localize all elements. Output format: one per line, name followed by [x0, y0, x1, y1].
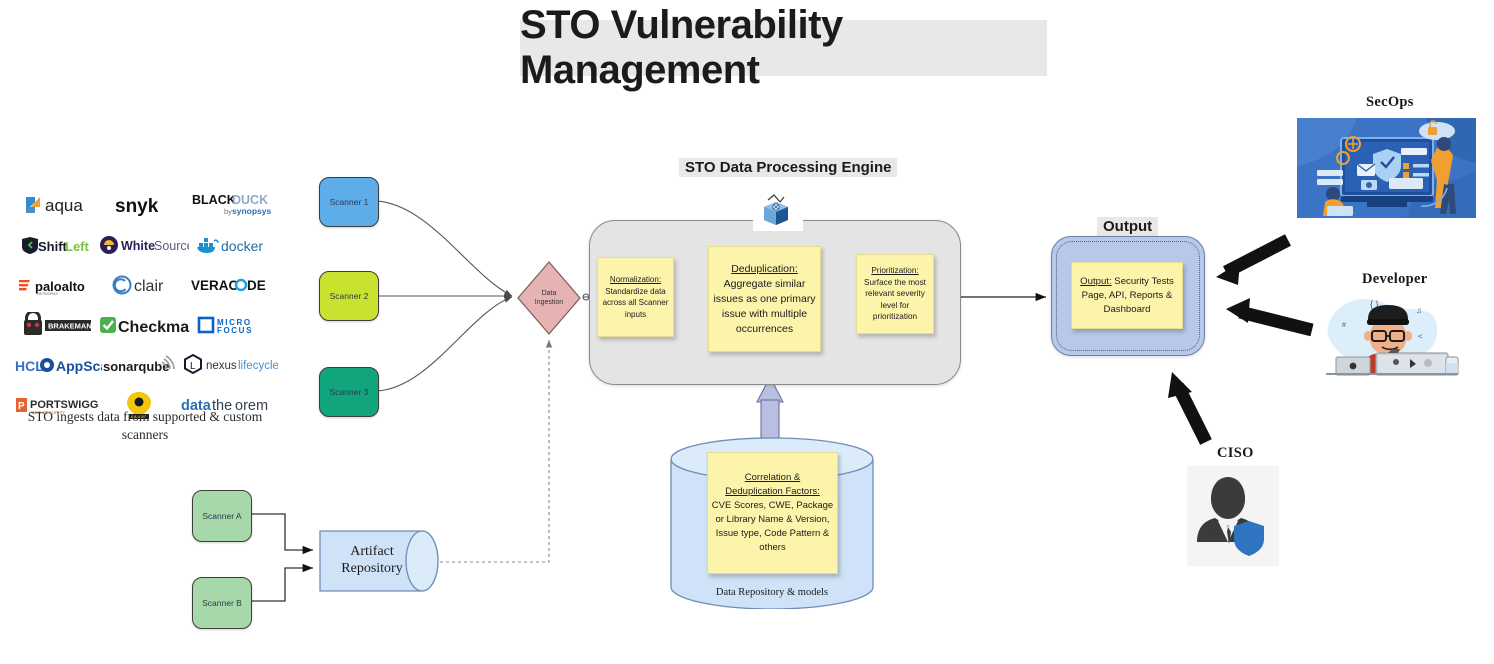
logo-row: paloalto NETWORKS clair VERAC DE	[14, 265, 274, 305]
normalization-heading: Normalization:	[610, 274, 661, 286]
svg-text:by: by	[224, 207, 232, 216]
brakeman-logo-icon: BRAKEMAN	[14, 305, 98, 345]
correlation-factors-note: Correlation & Deduplication Factors: CVE…	[707, 452, 838, 574]
developer-label: Developer	[1362, 271, 1428, 288]
scanner-logo-grid: aqua snyk BLACK DUCK by synopsys Shift L…	[14, 185, 274, 425]
svg-text:aqua: aqua	[45, 196, 83, 215]
output-heading: Output:	[1080, 276, 1111, 287]
data-ingestion-label: Data Ingestion	[516, 260, 582, 336]
svg-text:Source: Source	[154, 239, 189, 253]
hcl-appscan-logo-icon: HCL AppScan	[14, 345, 102, 385]
logo-row: BRAKEMAN Checkmarx MICRO FOCUS	[14, 305, 274, 345]
secops-illustration	[1297, 118, 1476, 218]
prioritization-note: Prioritization: Surface the most relevan…	[856, 254, 934, 334]
sonarqube-logo-icon: sonarqube	[102, 345, 182, 385]
normalization-note: Normalization: Standardize data across a…	[597, 257, 674, 337]
logo-row: aqua snyk BLACK DUCK by synopsys	[14, 185, 274, 225]
secops-label: SecOps	[1366, 94, 1414, 111]
docker-logo-icon: docker	[189, 225, 274, 265]
scanner-2-box[interactable]: Scanner 2	[319, 271, 379, 321]
scanner-1-box[interactable]: Scanner 1	[319, 177, 379, 227]
developer-illustration: { } ♫ # <	[1318, 291, 1463, 376]
data-ingestion-node[interactable]: Data Ingestion	[516, 260, 582, 336]
svg-text:VERAC: VERAC	[191, 278, 239, 293]
svg-text:BRAKEMAN: BRAKEMAN	[48, 322, 92, 331]
prioritization-body: Surface the most relevant severity level…	[860, 277, 930, 323]
normalization-body: Standardize data across all Scanner inpu…	[601, 286, 670, 321]
engine-section-title: STO Data Processing Engine	[679, 158, 897, 177]
svg-text:BLACK: BLACK	[192, 193, 236, 207]
deduplication-heading: Deduplication:	[731, 262, 798, 277]
deduplication-body: Aggregate similar issues as one primary …	[712, 277, 817, 337]
svg-text:clair: clair	[134, 278, 164, 295]
veracode-logo-icon: VERAC DE	[187, 265, 274, 305]
deduplication-note: Deduplication: Aggregate similar issues …	[708, 246, 821, 352]
paloalto-logo-icon: paloalto NETWORKS	[14, 265, 101, 305]
processing-cube-icon	[753, 193, 803, 231]
output-section-title: Output	[1097, 217, 1158, 236]
artifact-repository-label: Artifact Repository	[318, 543, 426, 577]
checkmarx-logo-icon: Checkmarx	[98, 305, 190, 345]
microfocus-logo-icon: MICRO FOCUS	[190, 305, 274, 345]
svg-text:docker: docker	[221, 238, 263, 254]
svg-text:DUCK: DUCK	[232, 193, 268, 207]
svg-text:FOCUS: FOCUS	[217, 326, 253, 335]
svg-text:Left: Left	[65, 239, 90, 254]
scanner-b-box[interactable]: Scanner B	[192, 577, 252, 629]
svg-text:DE: DE	[247, 278, 266, 293]
page-title: STO Vulnerability Management	[520, 20, 1047, 76]
svg-text:sonarqube: sonarqube	[103, 359, 169, 374]
svg-text:Checkmarx: Checkmarx	[118, 319, 190, 336]
shiftleft-logo-icon: Shift Left	[14, 225, 99, 265]
output-note: Output: Security Tests Page, API, Report…	[1071, 262, 1183, 329]
nexus-lifecycle-logo-icon: L nexus lifecycle	[182, 345, 278, 385]
aqua-logo-icon: aqua	[14, 185, 101, 225]
data-repository-label: Data Repository & models	[669, 586, 875, 599]
snyk-logo-icon: snyk	[101, 185, 188, 225]
clair-logo-icon: clair	[101, 265, 188, 305]
logo-row: HCL AppScan sonarqube L nexus lifecycle	[14, 345, 274, 385]
svg-text:lifecycle: lifecycle	[238, 360, 278, 372]
correlation-heading-1: Correlation &	[745, 471, 800, 485]
prioritization-heading: Prioritization:	[871, 265, 918, 277]
logo-row: Shift Left White Source docker	[14, 225, 274, 265]
blackduck-logo-icon: BLACK DUCK by synopsys	[187, 185, 274, 225]
output-note-text: Output: Security Tests Page, API, Report…	[1075, 275, 1179, 317]
svg-text:L: L	[190, 361, 196, 372]
scanner-logos-caption: STO ingests data from supported & custom…	[10, 408, 280, 444]
svg-text:<: <	[1418, 332, 1423, 341]
svg-text:♫: ♫	[1416, 306, 1422, 315]
ciso-label: CISO	[1217, 445, 1254, 462]
svg-text:snyk: snyk	[115, 196, 159, 217]
whitesource-logo-icon: White Source	[99, 225, 189, 265]
svg-text:NETWORKS: NETWORKS	[37, 292, 58, 296]
scanner-a-box[interactable]: Scanner A	[192, 490, 252, 542]
svg-text:synopsys: synopsys	[232, 206, 271, 216]
svg-text:#: #	[1342, 322, 1346, 329]
ingestion-line-1: Data	[542, 289, 557, 298]
svg-text:HCL: HCL	[15, 358, 44, 374]
correlation-heading-2: Deduplication Factors:	[725, 485, 820, 499]
svg-text:AppScan: AppScan	[56, 358, 102, 374]
svg-text:White: White	[121, 239, 155, 253]
svg-text:Shift: Shift	[38, 239, 68, 254]
scanner-3-box[interactable]: Scanner 3	[319, 367, 379, 417]
svg-text:nexus: nexus	[206, 360, 237, 372]
ingestion-line-2: Ingestion	[535, 298, 563, 307]
correlation-body: CVE Scores, CWE, Package or Library Name…	[711, 499, 834, 555]
ciso-avatar-icon	[1187, 466, 1279, 566]
